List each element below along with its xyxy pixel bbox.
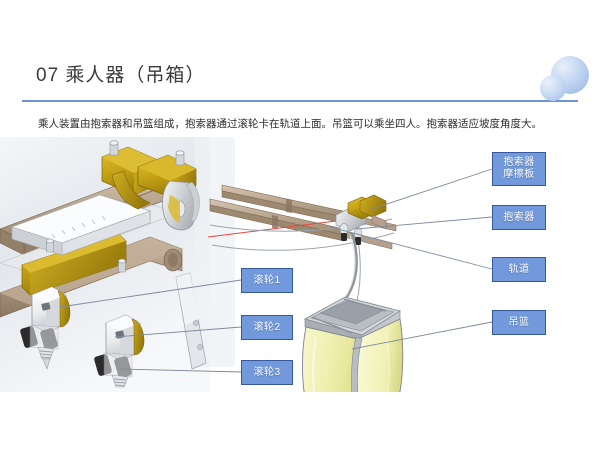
label-roller-3[interactable]: 滚轮3 xyxy=(241,360,293,385)
slide-canvas: 07 乘人器（吊箱） 乘人装置由抱索器和吊篮组成，抱索器通过滚轮卡在轨道上面。吊… xyxy=(0,0,600,450)
label-track[interactable]: 轨道 xyxy=(492,257,546,282)
decorative-circle-small-icon xyxy=(540,75,566,101)
label-roller-2[interactable]: 滚轮2 xyxy=(241,315,293,340)
cable-car-diagram xyxy=(0,137,520,392)
label-gripper[interactable]: 抱索器 xyxy=(492,205,546,230)
rubber-wheels-2 xyxy=(94,353,133,379)
rubber-wheels-1 xyxy=(20,325,59,351)
label-roller-1[interactable]: 滚轮1 xyxy=(241,268,293,293)
header-divider xyxy=(22,100,578,102)
page-title: 07 乘人器（吊箱） xyxy=(36,60,205,87)
label-cabin[interactable]: 吊篮 xyxy=(492,310,546,335)
cabin-hanger-arm-hilight xyxy=(343,235,355,300)
label-gripper-friction-plate[interactable]: 抱索器 摩擦板 xyxy=(492,152,546,186)
slide-description: 乘人装置由抱索器和吊篮组成，抱索器通过滚轮卡在轨道上面。吊篮可以乘坐四人。抱索器… xyxy=(38,117,578,132)
overview-rails-and-cabin xyxy=(208,185,403,392)
